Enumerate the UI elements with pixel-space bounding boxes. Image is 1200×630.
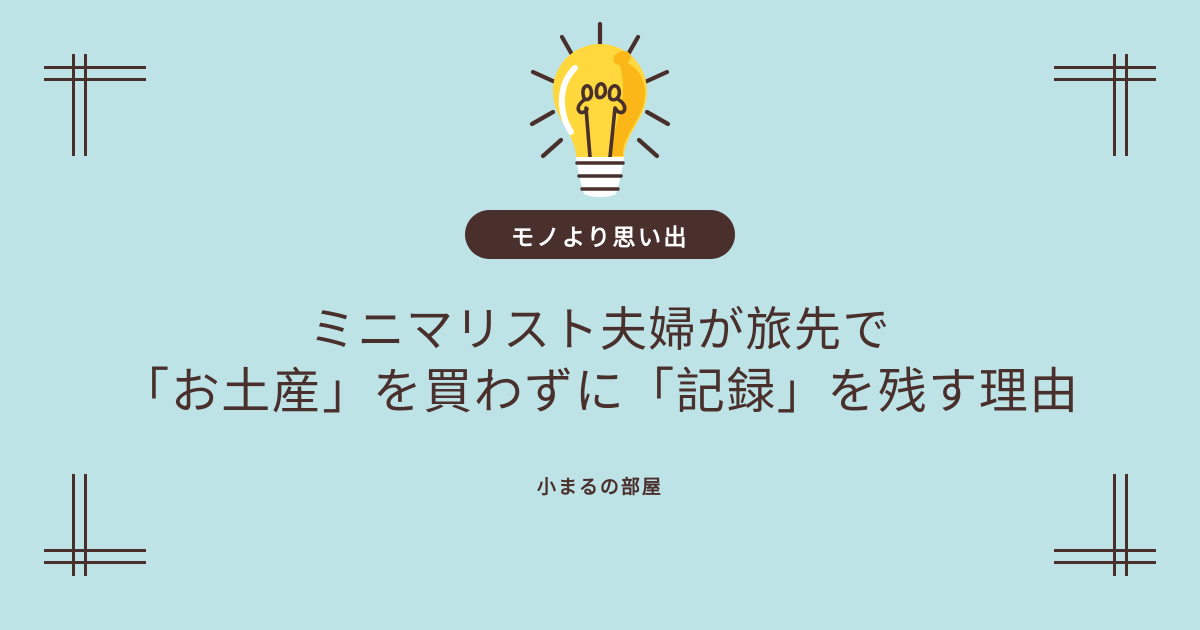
eyecatch-canvas: モノより思い出 ミニマリスト夫婦が旅先で 「お土産」を買わずに「記録」を残す理由… (0, 0, 1200, 630)
site-name: 小まるの部屋 (537, 472, 663, 499)
category-badge-label: モノより思い出 (511, 218, 689, 252)
category-badge: モノより思い出 (465, 210, 735, 259)
eyecatch-content: モノより思い出 ミニマリスト夫婦が旅先で 「お土産」を買わずに「記録」を残す理由… (0, 0, 1200, 630)
page-title-line-2: 「お土産」を買わずに「記録」を残す理由 (120, 361, 1080, 424)
lightbulb-base (576, 157, 624, 197)
page-title-line-1: ミニマリスト夫婦が旅先で (120, 301, 1080, 361)
page-title: ミニマリスト夫婦が旅先で 「お土産」を買わずに「記録」を残す理由 (120, 301, 1080, 424)
lightbulb-icon (505, 20, 695, 198)
